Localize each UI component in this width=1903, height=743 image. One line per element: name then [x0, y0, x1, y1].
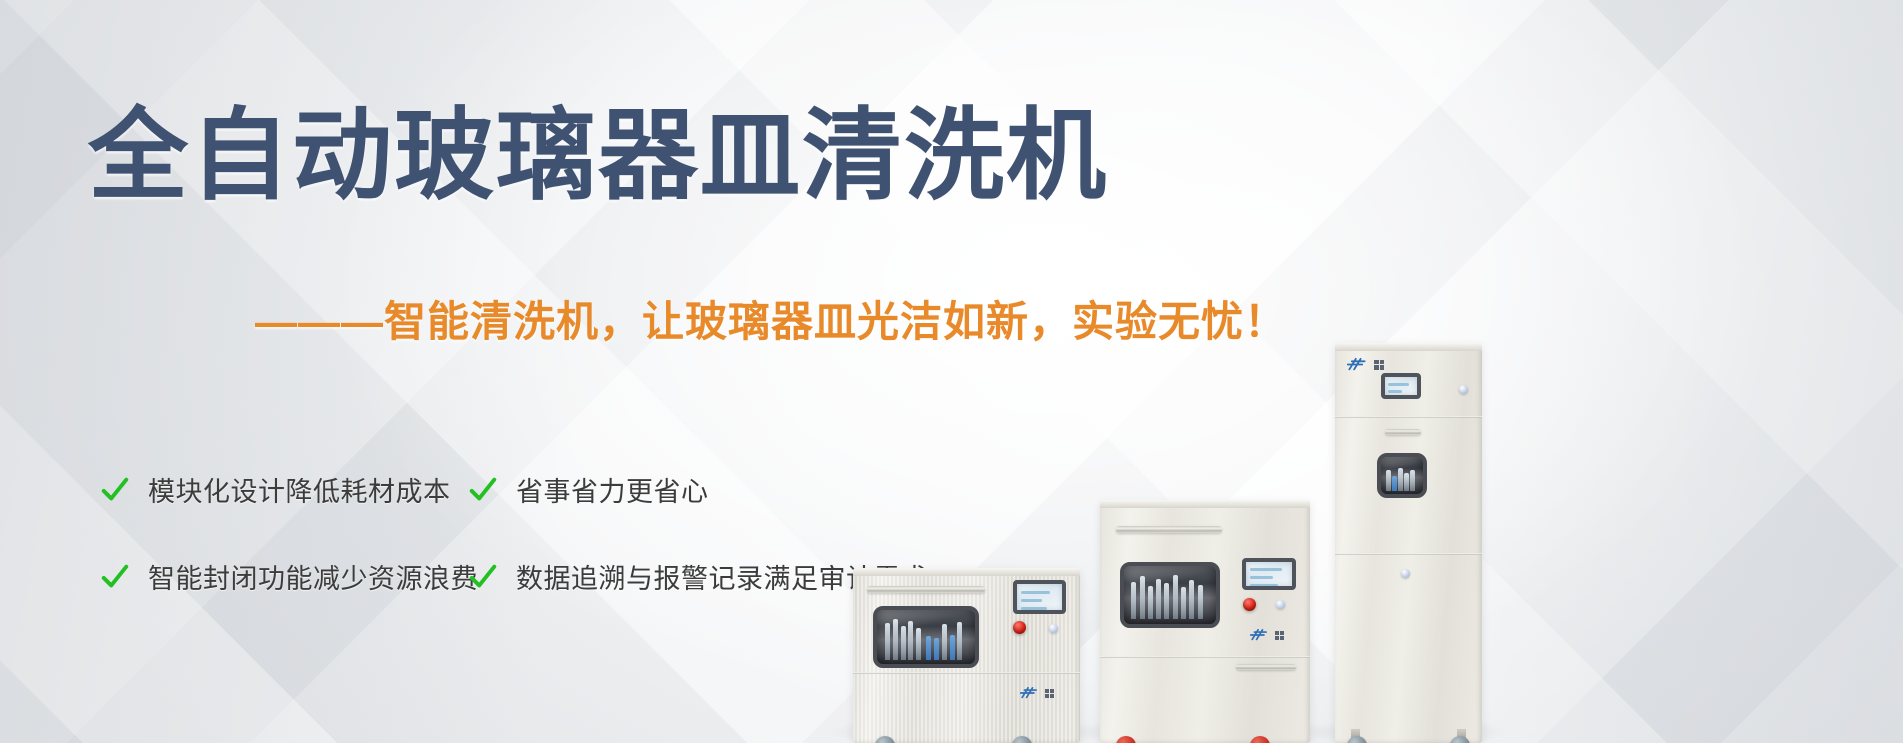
machine-cabinet	[1100, 500, 1310, 743]
feature-label: 智能封闭功能减少资源浪费	[148, 557, 478, 596]
cabinet-top-cap	[1335, 343, 1482, 351]
machine-cabinet	[1335, 343, 1482, 743]
cabinet-seam	[1100, 656, 1310, 658]
cabinet-seam	[1335, 416, 1482, 418]
machine-cabinet	[853, 568, 1080, 743]
control-touchscreen[interactable]	[1013, 580, 1066, 614]
glassware-load	[1381, 457, 1423, 494]
check-icon	[100, 475, 130, 505]
cabinet-top-cap	[853, 568, 1080, 576]
brand-logo	[1347, 357, 1384, 372]
emergency-stop-button[interactable]	[1243, 598, 1256, 611]
door-handle[interactable]	[1385, 429, 1421, 435]
indicator-button[interactable]	[1049, 624, 1058, 633]
cabinet-seam	[1335, 553, 1482, 555]
control-touchscreen[interactable]	[1242, 558, 1296, 590]
caster-wheel	[1012, 736, 1032, 743]
viewing-window	[873, 606, 979, 668]
glassware-load	[1124, 566, 1216, 624]
cabinet-top-cap	[1100, 500, 1310, 508]
door-handle[interactable]	[1116, 526, 1222, 533]
list-item: 模块化设计降低耗材成本	[100, 470, 468, 509]
caster-wheel	[1347, 736, 1367, 743]
emergency-stop-button[interactable]	[1013, 621, 1026, 634]
indicator-button[interactable]	[1276, 600, 1285, 609]
caster-wheel	[1250, 736, 1270, 743]
caster-wheel	[1450, 736, 1470, 743]
check-icon	[100, 562, 130, 592]
product-image-group	[843, 123, 1903, 743]
product-tall-column-washer	[1335, 343, 1482, 743]
indicator-button[interactable]	[1459, 385, 1468, 394]
product-freestanding-washer	[1100, 500, 1310, 743]
product-undercounter-washer	[853, 568, 1080, 743]
feature-list: 模块化设计降低耗材成本 省事省力更省心 智能封闭功能减少资源浪费 数据追溯与报警…	[100, 470, 929, 596]
check-icon	[468, 562, 498, 592]
promo-banner: 全自动玻璃器皿清洗机 ———智能清洗机，让玻璃器皿光洁如新，实验无忧！ 模块化设…	[0, 0, 1903, 743]
brand-logo	[1020, 686, 1054, 700]
door-handle[interactable]	[867, 586, 985, 593]
caster-wheel	[1116, 736, 1136, 743]
list-item: 智能封闭功能减少资源浪费	[100, 557, 468, 596]
feature-label: 省事省力更省心	[516, 470, 709, 509]
glassware-load	[877, 610, 975, 664]
control-touchscreen[interactable]	[1381, 373, 1421, 399]
viewing-window	[1377, 453, 1427, 498]
cabinet-seam	[853, 672, 1080, 674]
caster-wheel	[875, 736, 895, 743]
check-icon	[468, 475, 498, 505]
brand-logo	[1250, 628, 1284, 642]
banner-content: 全自动玻璃器皿清洗机 ———智能清洗机，让玻璃器皿光洁如新，实验无忧！ 模块化设…	[0, 0, 1903, 743]
feature-label: 模块化设计降低耗材成本	[148, 470, 451, 509]
lower-door-latch[interactable]	[1401, 569, 1410, 578]
lower-door-handle[interactable]	[1236, 664, 1296, 670]
viewing-window	[1120, 562, 1220, 628]
